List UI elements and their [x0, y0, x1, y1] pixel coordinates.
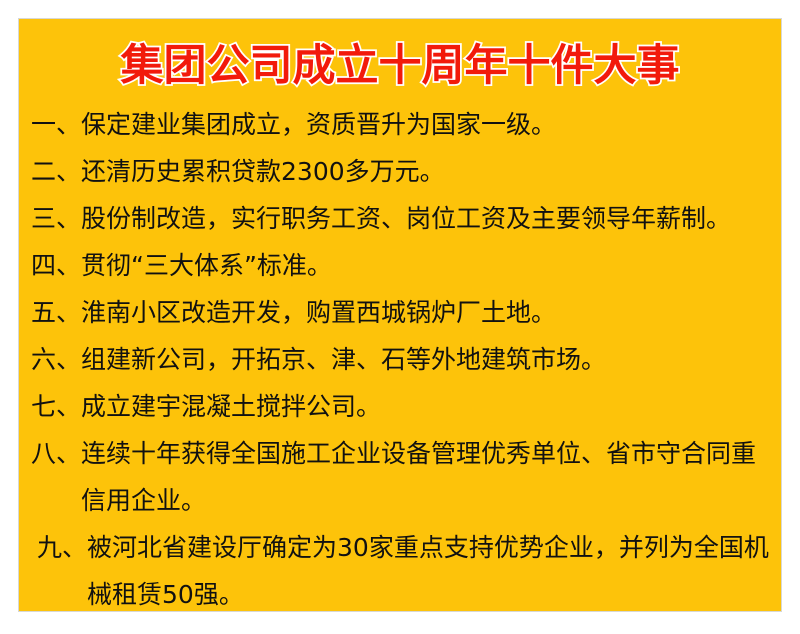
poster-panel: 集团公司成立十周年十件大事 一、 保定建业集团成立，资质晋升为国家一级。 二、 … — [18, 18, 782, 612]
list-item-text: 被河北省建设厅确定为30家重点支持优势企业，并列为全国机械租赁50强。 — [87, 524, 775, 612]
list-item-text: 保定建业集团成立，资质晋升为国家一级。 — [81, 101, 775, 148]
list-item-text: 连续十年获得全国施工企业设备管理优秀单位、省市守合同重信用企业。 — [81, 430, 775, 524]
list-item: 二、 还清历史累积贷款2300多万元。 — [31, 148, 775, 195]
list-item-text: 还清历史累积贷款2300多万元。 — [81, 148, 775, 195]
list-item-marker: 六、 — [31, 336, 81, 383]
list-item-text: 成立建宇混凝土搅拌公司。 — [81, 383, 775, 430]
list-item: 一、 保定建业集团成立，资质晋升为国家一级。 — [31, 101, 775, 148]
milestone-list: 一、 保定建业集团成立，资质晋升为国家一级。 二、 还清历史累积贷款2300多万… — [31, 101, 775, 612]
list-item: 九、 被河北省建设厅确定为30家重点支持优势企业，并列为全国机械租赁50强。 — [31, 524, 775, 612]
list-item-marker: 三、 — [31, 195, 81, 242]
list-item-marker: 八、 — [31, 430, 81, 477]
list-item-marker: 五、 — [31, 289, 81, 336]
list-item-marker: 四、 — [31, 242, 81, 289]
list-item: 七、 成立建宇混凝土搅拌公司。 — [31, 383, 775, 430]
list-item: 六、 组建新公司，开拓京、津、石等外地建筑市场。 — [31, 336, 775, 383]
list-item-marker: 九、 — [37, 524, 87, 571]
list-item: 四、 贯彻“三大体系”标准。 — [31, 242, 775, 289]
list-item: 五、 淮南小区改造开发，购置西城锅炉厂土地。 — [31, 289, 775, 336]
list-item-marker: 七、 — [31, 383, 81, 430]
list-item-text: 淮南小区改造开发，购置西城锅炉厂土地。 — [81, 289, 775, 336]
list-item-text: 贯彻“三大体系”标准。 — [81, 242, 775, 289]
list-item-text: 组建新公司，开拓京、津、石等外地建筑市场。 — [81, 336, 775, 383]
list-item: 三、 股份制改造，实行职务工资、岗位工资及主要领导年薪制。 — [31, 195, 775, 242]
list-item: 八、 连续十年获得全国施工企业设备管理优秀单位、省市守合同重信用企业。 — [31, 430, 775, 524]
list-item-marker: 二、 — [31, 148, 81, 195]
list-item-marker: 一、 — [31, 101, 81, 148]
list-item-text: 股份制改造，实行职务工资、岗位工资及主要领导年薪制。 — [81, 195, 775, 242]
page-title: 集团公司成立十周年十件大事 — [19, 41, 781, 91]
